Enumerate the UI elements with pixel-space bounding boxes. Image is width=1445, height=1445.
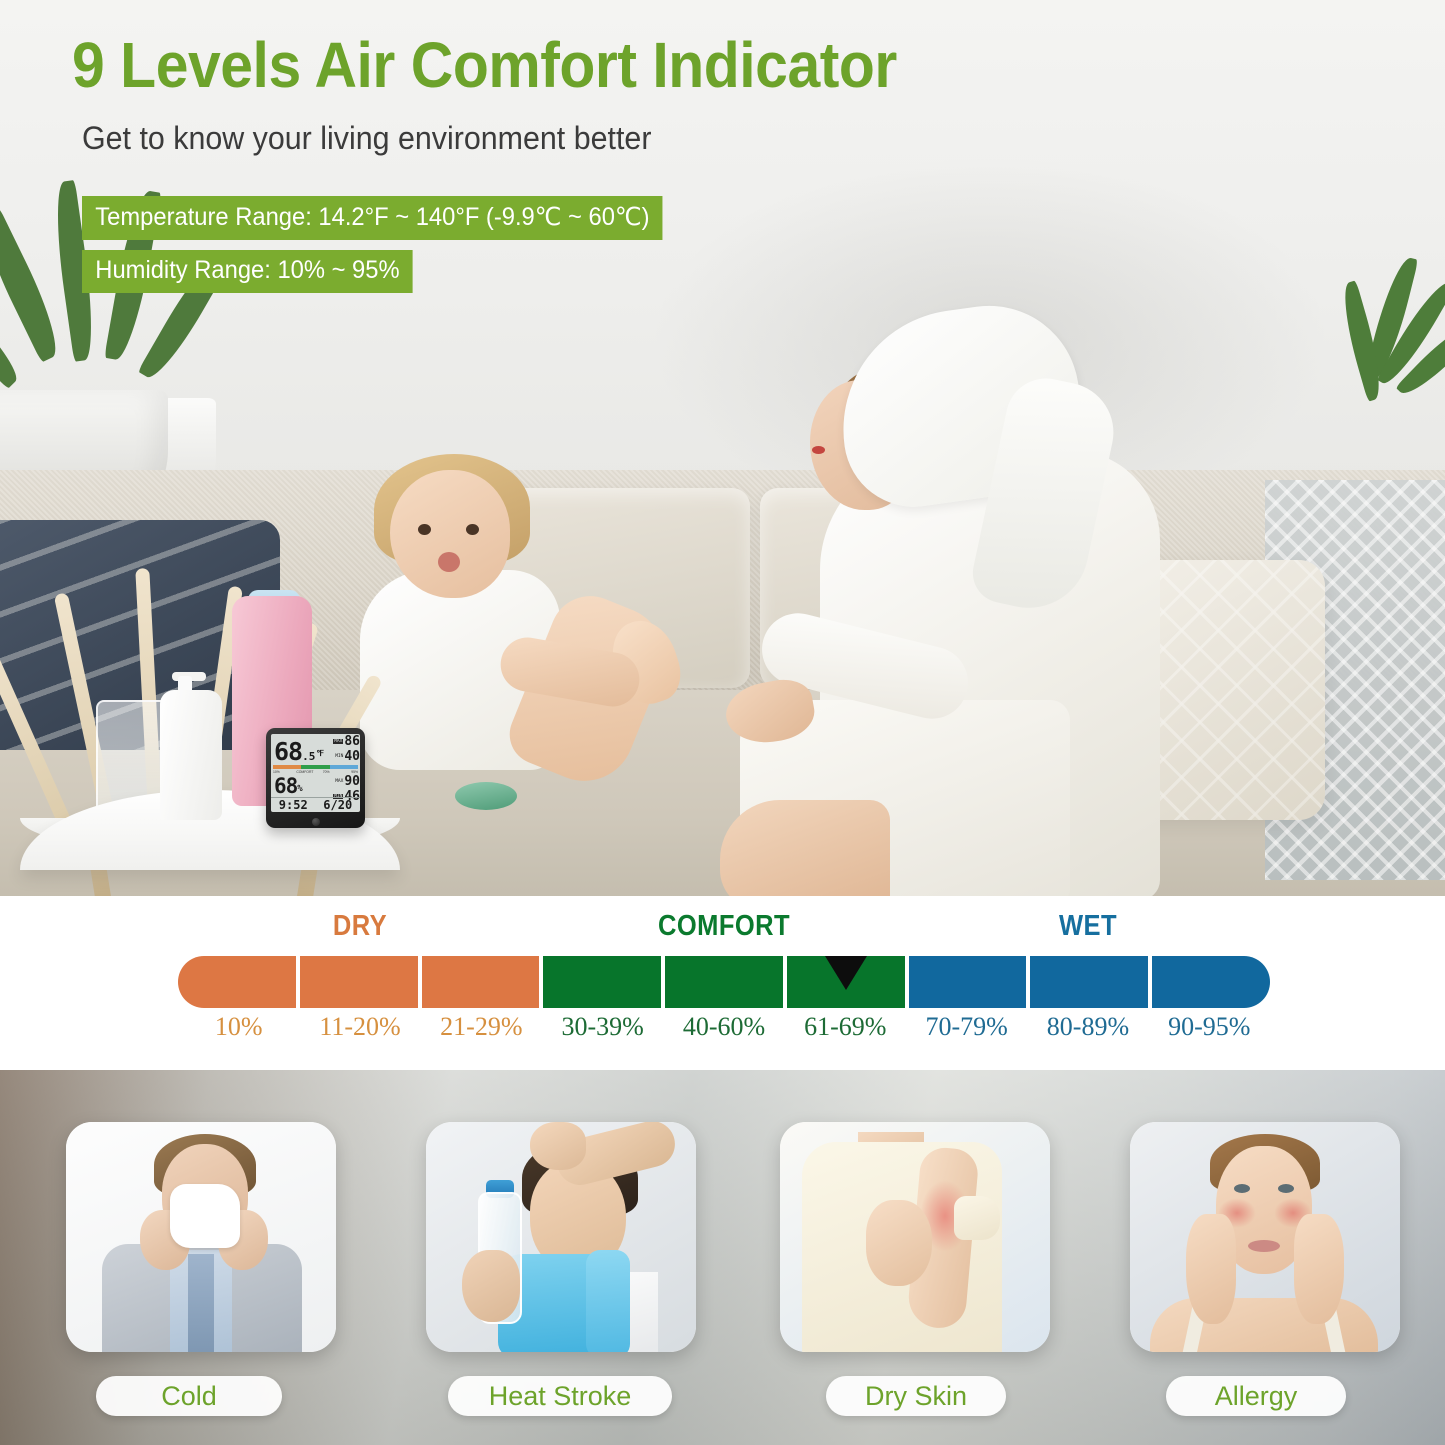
page-title: 9 Levels Air Comfort Indicator xyxy=(72,28,897,102)
thermo-hygrometer-device[interactable]: 68 .5 ℉ MAX 86 MIN 40 xyxy=(266,728,365,828)
lcd-humidity-reading: 68 % xyxy=(271,774,323,797)
percent-label-3: 30-39% xyxy=(542,1012,663,1042)
lcd-temp-unit: ℉ xyxy=(316,744,324,764)
potted-plant-right xyxy=(1335,255,1445,485)
percent-label-0: 10% xyxy=(178,1012,299,1042)
symptom-card-heat-stroke[interactable] xyxy=(426,1122,696,1352)
lcd-date: 6/20 xyxy=(316,798,361,812)
lcd-temperature-reading: 68 .5 ℉ xyxy=(271,734,324,764)
symptoms-section: Cold Heat Stroke Dry Skin xyxy=(0,1070,1445,1445)
zone-label-comfort: COMFORT xyxy=(564,910,884,950)
hero-section: 68 .5 ℉ MAX 86 MIN 40 xyxy=(0,0,1445,896)
symptom-label-heat-stroke: Heat Stroke xyxy=(448,1376,672,1416)
percent-label-1: 11-20% xyxy=(299,1012,420,1042)
lcd-humidity-value: 68 xyxy=(274,776,297,797)
lcd-temp-min-value: 40 xyxy=(344,750,360,763)
woman-scratching-arm-icon xyxy=(780,1122,1050,1352)
lcd-humidity-minmax: MAX 90 MIN 46 xyxy=(323,774,360,797)
humidity-range-badge: Humidity Range: 10% ~ 95% xyxy=(82,250,413,293)
lcd-temp-min-tag: MIN xyxy=(335,754,343,759)
lcd-bar-dry xyxy=(273,765,301,769)
percent-label-7: 80-89% xyxy=(1027,1012,1148,1042)
lcd-hum-max-value: 90 xyxy=(344,775,360,788)
lcd-temp-max-tag: MAX xyxy=(333,739,343,744)
woman-leg xyxy=(720,800,890,896)
toddler-head xyxy=(390,470,510,598)
symptom-card-dry-skin[interactable] xyxy=(780,1122,1050,1352)
lcd-temp-decimal: .5 xyxy=(302,750,315,764)
symptom-label-allergy: Allergy xyxy=(1166,1376,1346,1416)
scale-segment-61-69[interactable] xyxy=(787,956,905,1008)
toddler-eye xyxy=(466,524,479,535)
lcd-bar-wet xyxy=(330,765,358,769)
lcd-time: 9:52 xyxy=(271,798,316,812)
woman-red-cheeks-face-icon xyxy=(1130,1122,1400,1352)
toddler-eye xyxy=(418,524,431,535)
humidity-scale-bar xyxy=(178,956,1270,1008)
scale-segment-30-39[interactable] xyxy=(543,956,661,1008)
humidity-scale-section: DRY COMFORT WET 10% 11-20% 21-29% 30-39%… xyxy=(0,896,1445,1070)
scale-segment-70-79[interactable] xyxy=(909,956,1027,1008)
symptom-label-dry-skin: Dry Skin xyxy=(826,1376,1006,1416)
page-subtitle: Get to know your living environment bett… xyxy=(82,120,651,157)
lcd-temp-max-value: 86 xyxy=(344,735,360,748)
woman-lips xyxy=(812,446,825,454)
scale-segment-40-60[interactable] xyxy=(665,956,783,1008)
temperature-range-badge: Temperature Range: 14.2°F ~ 140°F (-9.9℃… xyxy=(82,196,663,240)
lcd-clock-row: 9:52 6/20 xyxy=(271,797,360,812)
lcd-temperature-row: 68 .5 ℉ MAX 86 MIN 40 xyxy=(271,734,360,764)
lcd-hum-max-tag: MAX xyxy=(335,779,343,784)
zone-label-wet: WET xyxy=(928,910,1248,950)
device-button[interactable] xyxy=(312,818,320,826)
device-lcd-screen: 68 .5 ℉ MAX 86 MIN 40 xyxy=(271,734,360,812)
percent-label-4: 40-60% xyxy=(663,1012,784,1042)
lcd-humidity-row: 68 % MAX 90 MIN 46 xyxy=(271,774,360,797)
percent-label-8: 90-95% xyxy=(1149,1012,1270,1042)
percent-label-2: 21-29% xyxy=(421,1012,542,1042)
toddler-mouth xyxy=(438,552,460,572)
woman-in-bathrobe xyxy=(660,300,1220,896)
percent-label-row: 10% 11-20% 21-29% 30-39% 40-60% 61-69% 7… xyxy=(178,1012,1270,1042)
scale-segment-10[interactable] xyxy=(178,956,296,1008)
zone-label-row: DRY COMFORT WET xyxy=(178,910,1270,950)
scale-segment-11-20[interactable] xyxy=(300,956,418,1008)
percent-label-5: 61-69% xyxy=(785,1012,906,1042)
symptom-card-cold[interactable] xyxy=(66,1122,336,1352)
scale-segment-80-89[interactable] xyxy=(1030,956,1148,1008)
green-container-lid xyxy=(455,782,517,810)
lcd-temp-value: 68 xyxy=(274,739,302,764)
scale-segment-90-95[interactable] xyxy=(1152,956,1270,1008)
zone-label-dry: DRY xyxy=(200,910,520,950)
scale-segment-21-29[interactable] xyxy=(422,956,540,1008)
lcd-temp-minmax: MAX 86 MIN 40 xyxy=(324,734,360,764)
lcd-humidity-unit: % xyxy=(297,782,302,797)
toddler-on-sofa xyxy=(330,440,710,840)
man-sweating-water-bottle-towel-icon xyxy=(426,1122,696,1352)
cold-person-sneezing-tissue-icon xyxy=(66,1122,336,1352)
symptom-label-cold: Cold xyxy=(96,1376,282,1416)
current-level-marker-triangle-icon xyxy=(825,956,867,990)
percent-label-6: 70-79% xyxy=(906,1012,1027,1042)
symptom-card-allergy[interactable] xyxy=(1130,1122,1400,1352)
lotion-bottle-white xyxy=(160,690,222,820)
lcd-bar-comfort xyxy=(301,765,329,769)
